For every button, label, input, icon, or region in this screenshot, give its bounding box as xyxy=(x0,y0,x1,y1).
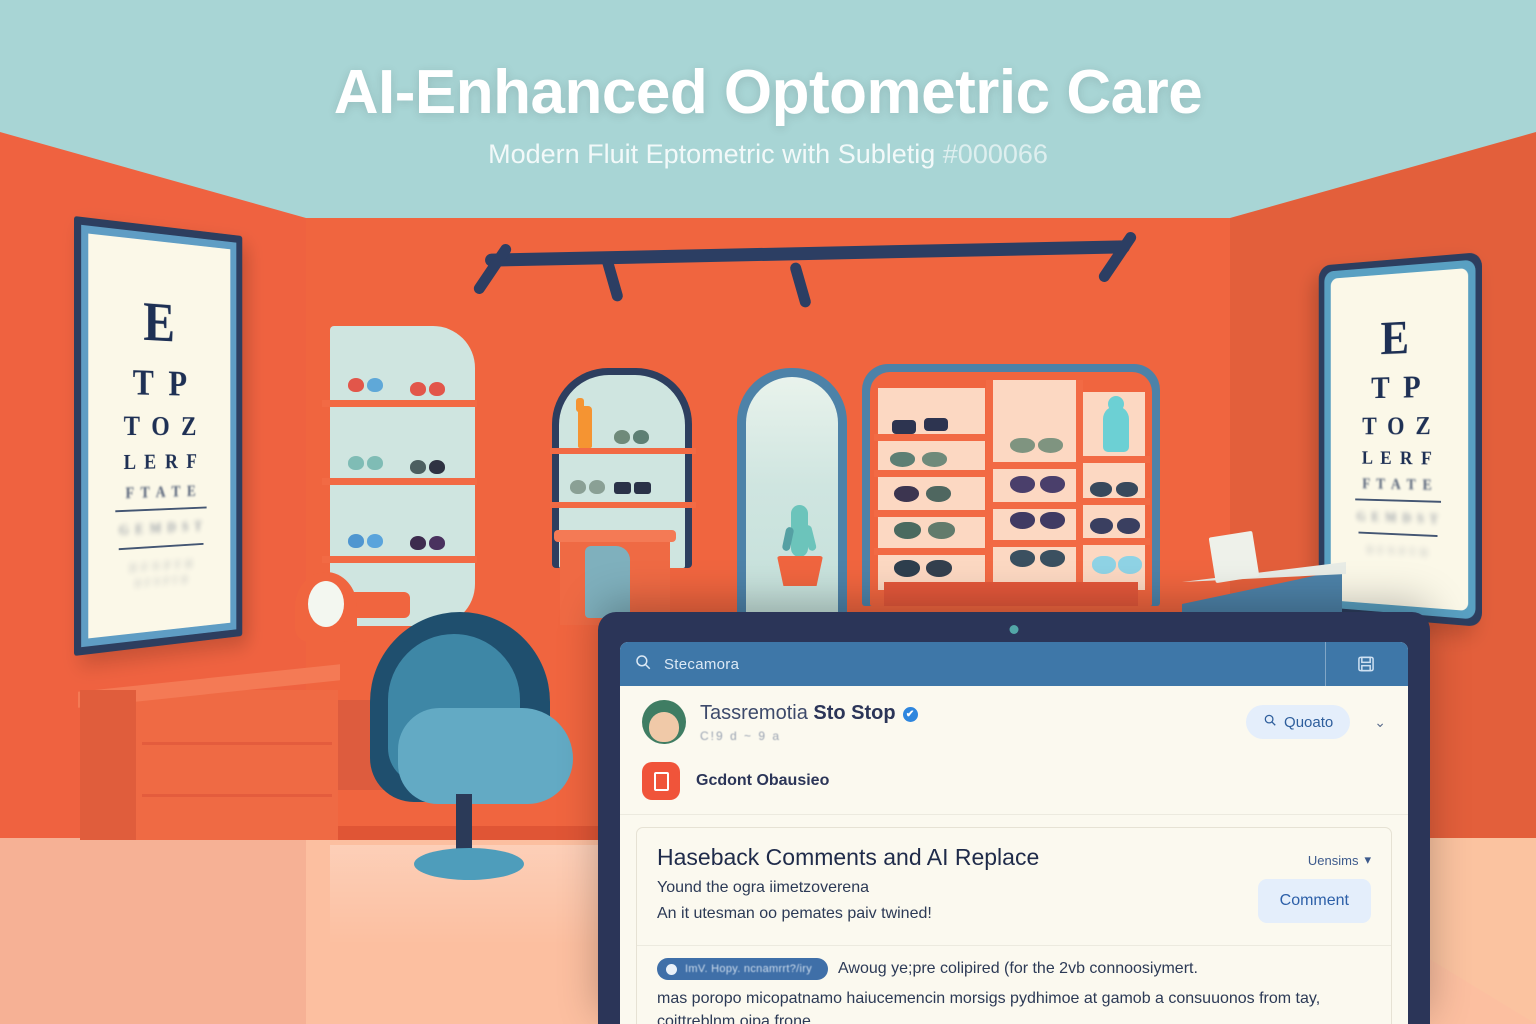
sunglasses-item xyxy=(894,522,921,539)
reply-lead-text: Awoug ye;pre colipired (for the 2vb conn… xyxy=(838,960,1198,978)
eye-chart-left-paper: E T P T O Z L E R F F T A T E G E M D S … xyxy=(88,234,230,639)
eye-chart-rule xyxy=(1359,531,1438,536)
cactus-plant xyxy=(782,505,816,560)
cabinet-interior xyxy=(870,372,1152,606)
comment-card-menu-label: Uensims xyxy=(1308,853,1359,868)
reply-tag-badge[interactable]: ImV. Hopy. ncnamrrt?/iry xyxy=(657,958,828,980)
profile-name-bold: Sto Stop xyxy=(813,702,895,724)
room-floor-left xyxy=(0,838,306,1024)
sunglasses-item xyxy=(1040,550,1065,567)
eyewear-display-cabinet xyxy=(862,364,1160,606)
search-icon[interactable] xyxy=(634,653,652,676)
comment-button[interactable]: Comment xyxy=(1258,879,1371,923)
status-dot-icon xyxy=(666,964,677,975)
app-red-icon[interactable] xyxy=(642,762,680,800)
eyewear-pair xyxy=(570,480,605,494)
eye-chart-left: E T P T O Z L E R F F T A T E G E M D S … xyxy=(74,216,242,656)
reply-tag-label: ImV. Hopy. ncnamrrt?/iry xyxy=(685,963,812,975)
eyewear-pair xyxy=(348,534,383,548)
app-row[interactable]: Gcdont Obausieo xyxy=(620,754,1408,815)
eye-chart-row: E xyxy=(143,293,180,351)
comment-card-title: Haseback Comments and AI Replace xyxy=(657,844,1308,871)
eye-chart-row: G E M D S T xyxy=(1357,511,1440,528)
profile-identity: Tassremotia Sto Stop✔ C!9 d ~ 9 a xyxy=(700,702,918,743)
browser-tab-title[interactable]: Stecamora xyxy=(664,656,739,673)
app-icon-glyph xyxy=(654,772,669,791)
desk-mirror xyxy=(295,572,357,642)
alcove-shelf xyxy=(550,502,696,508)
cabinet-shelf xyxy=(874,510,990,517)
sunglasses-item xyxy=(926,486,951,502)
verified-badge-icon: ✔ xyxy=(903,707,918,722)
eye-chart-row: F T A T E xyxy=(125,483,197,501)
cabinet-shelf xyxy=(990,462,1080,469)
sunglasses-item xyxy=(1090,518,1113,534)
chevron-down-icon: ▾ xyxy=(1364,852,1371,868)
bottle-neck xyxy=(576,398,584,412)
avatar[interactable] xyxy=(642,700,686,744)
laptop-screen: Stecamora Tassremotia Sto Stop✔ C!9 d ~ … xyxy=(620,642,1408,1024)
eyewear-pair xyxy=(348,456,383,470)
quote-button[interactable]: Quoato xyxy=(1246,705,1350,739)
chair-seat xyxy=(398,708,573,804)
sunglasses-item xyxy=(1118,556,1142,574)
dresser-drawer-line xyxy=(142,742,332,745)
sunglasses-item xyxy=(926,560,952,577)
mannequin-bust xyxy=(1103,406,1129,452)
sunglasses-item xyxy=(890,452,915,467)
eye-chart-row: D F N P T H xyxy=(1367,545,1429,559)
comment-card-body: Yound the ogra iimetzoverena An it utesm… xyxy=(637,875,1391,945)
cabinet-shelf xyxy=(874,434,990,441)
counter-tablet xyxy=(1209,531,1260,583)
sunglasses-item xyxy=(928,522,955,539)
bottle-decor xyxy=(578,406,592,448)
sunglasses-item xyxy=(1040,476,1065,493)
sunglasses-item xyxy=(1092,556,1116,574)
dresser-drawer-line xyxy=(142,794,332,797)
mannequin-head xyxy=(1108,396,1124,412)
app-row-label: Gcdont Obausieo xyxy=(696,772,829,790)
sunglasses-item xyxy=(1010,476,1035,493)
desk-mirror-glass xyxy=(308,581,344,627)
eye-chart-right-paper: E T P T O Z L E R F F T A T E G E M D S … xyxy=(1331,268,1468,611)
quote-button-label: Quoato xyxy=(1284,714,1333,731)
comment-line: An it utesman oo pemates paiv twined! xyxy=(657,905,1242,923)
reply-paragraph: mas poropo micopatnamo haiucemencin mors… xyxy=(657,987,1371,1024)
browser-toolbar[interactable]: Stecamora xyxy=(620,642,1408,686)
cabinet-divider xyxy=(1076,380,1083,592)
search-icon xyxy=(1263,713,1277,731)
profile-name-prefix: Tassremotia xyxy=(700,702,813,724)
sunglasses-item xyxy=(922,452,947,467)
eyewear-pair xyxy=(348,378,383,392)
cactus-pot xyxy=(777,556,823,586)
comment-line: Yound the ogra iimetzoverena xyxy=(657,879,1242,897)
sunglasses-item xyxy=(1040,512,1065,529)
eye-chart-row: F T A T E xyxy=(1362,477,1433,494)
cabinet-shelf xyxy=(1080,456,1150,463)
eyewear-shelf-left xyxy=(330,326,475,626)
eye-chart-row: G E M D S T xyxy=(119,520,203,539)
cabinet-shelf xyxy=(990,540,1080,547)
eye-chart-row: T P xyxy=(133,364,191,402)
webcam-icon xyxy=(1010,625,1019,634)
profile-row: Tassremotia Sto Stop✔ C!9 d ~ 9 a Quoato… xyxy=(620,686,1408,754)
sunglasses-item xyxy=(1116,482,1138,497)
browser-toolbar-left[interactable]: Stecamora xyxy=(634,653,1313,676)
chair-base xyxy=(414,848,524,880)
eye-chart-row: T O Z xyxy=(1362,413,1433,438)
page-title: AI-Enhanced Optometric Care xyxy=(0,60,1536,127)
cabinet-shelf xyxy=(874,548,990,555)
cabinet-shelf xyxy=(1080,498,1150,505)
cabinet-shelf xyxy=(874,470,990,477)
page-subtitle: Modern Fluit Eptometric with Subletig #0… xyxy=(0,139,1536,170)
sunglasses-item xyxy=(1117,518,1140,534)
sunglasses-item xyxy=(892,420,916,434)
eye-chart-row: D F N P T H xyxy=(130,557,194,573)
eyewear-pair xyxy=(410,382,445,396)
page-subtitle-accent: #000066 xyxy=(943,139,1048,169)
eye-chart-row: E xyxy=(1381,312,1415,362)
profile-handle: C!9 d ~ 9 a xyxy=(700,729,918,743)
eye-chart-row: T O Z xyxy=(124,413,200,441)
eye-chart-rule xyxy=(1355,498,1441,502)
reply-block: ImV. Hopy. ncnamrrt?/iry Awoug ye;pre co… xyxy=(637,945,1391,1024)
laptop-device: Stecamora Tassremotia Sto Stop✔ C!9 d ~ … xyxy=(598,612,1430,1024)
sunglasses-item xyxy=(894,486,919,502)
toolbar-divider xyxy=(1325,642,1326,686)
sunglasses-item xyxy=(1038,438,1063,453)
alcove-shelf xyxy=(550,448,696,454)
sunglasses-item xyxy=(1010,512,1035,529)
eyewear-pair xyxy=(410,536,445,550)
cabinet-divider xyxy=(986,380,993,592)
comment-card: Haseback Comments and AI Replace Uensims… xyxy=(636,827,1392,1024)
eye-chart-row: D F N P T H xyxy=(135,576,188,590)
comment-card-lines: Yound the ogra iimetzoverena An it utesm… xyxy=(657,879,1242,931)
profile-name: Tassremotia Sto Stop✔ xyxy=(700,702,918,725)
sunglasses-item xyxy=(924,418,948,431)
reply-top-row: ImV. Hopy. ncnamrrt?/iry Awoug ye;pre co… xyxy=(657,958,1371,980)
eye-chart-rule xyxy=(119,543,204,550)
cabinet-base xyxy=(884,582,1138,606)
eyewear-pair xyxy=(614,482,651,494)
counter-lip xyxy=(554,530,676,542)
comment-card-header: Haseback Comments and AI Replace Uensims… xyxy=(637,828,1391,875)
storage-dresser xyxy=(80,690,338,840)
page-subtitle-main: Modern Fluit Eptometric with Subletig xyxy=(488,139,943,169)
eyewear-pair xyxy=(410,460,445,474)
shelf-bar xyxy=(322,400,477,407)
cabinet-shelf xyxy=(1080,538,1150,545)
eye-chart-row: L E R F xyxy=(124,451,199,473)
eye-chart-rule xyxy=(115,506,206,512)
sunglasses-item xyxy=(1090,482,1112,497)
dresser-side xyxy=(80,690,136,840)
cabinet-shelf xyxy=(990,502,1080,509)
shelf-bar xyxy=(322,556,477,563)
eye-chart-row: T P xyxy=(1371,372,1424,405)
floor-bin xyxy=(585,546,630,618)
eye-chart-row: L E R F xyxy=(1362,448,1434,468)
sunglasses-item xyxy=(1010,438,1035,453)
sunglasses-item xyxy=(894,560,920,577)
eyewear-pair xyxy=(614,430,649,444)
shelf-bar xyxy=(322,478,477,485)
comment-card-menu[interactable]: Uensims ▾ xyxy=(1308,844,1371,868)
sunglasses-item xyxy=(1010,550,1035,567)
avatar-face xyxy=(649,712,679,742)
optometry-scene-illustration: E T P T O Z L E R F F T A T E G E M D S … xyxy=(0,0,1536,1024)
page-title-block: AI-Enhanced Optometric Care Modern Fluit… xyxy=(0,60,1536,170)
save-disk-icon[interactable] xyxy=(1338,654,1394,674)
chevron-down-icon[interactable]: ⌄ xyxy=(1374,714,1386,731)
